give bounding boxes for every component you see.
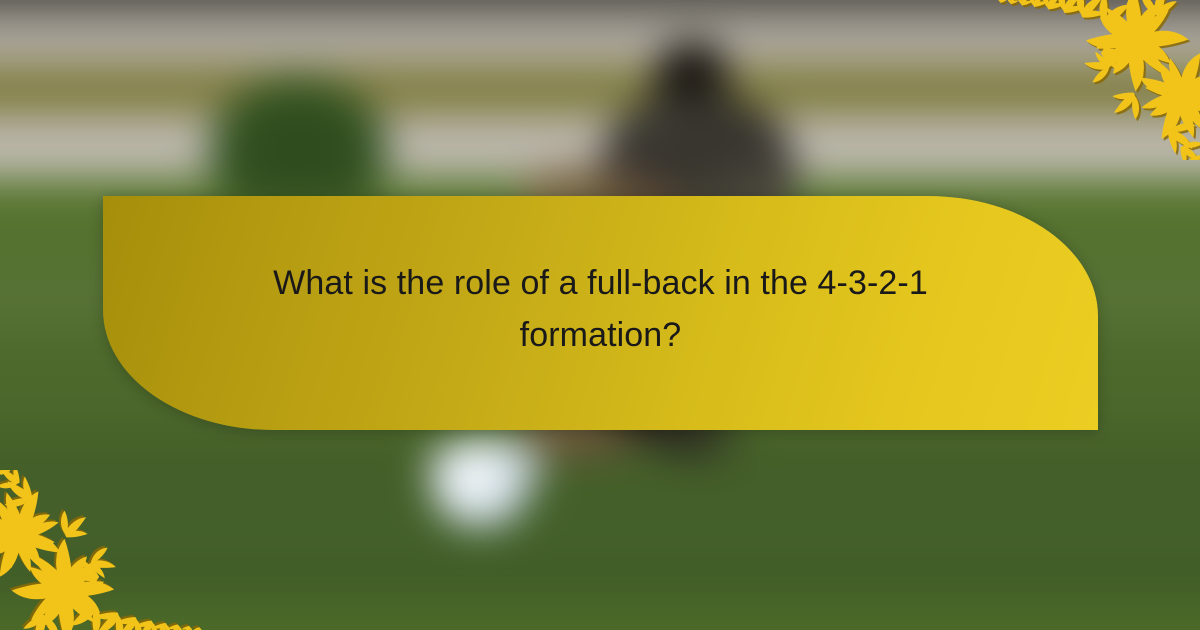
stadium-advert-stripe — [0, 62, 1200, 124]
stadium-wall-upper — [0, 3, 1200, 71]
question-text: What is the role of a full-back in the 4… — [221, 258, 981, 367]
question-card: What is the role of a full-back in the 4… — [0, 0, 1200, 630]
soccer-ball-icon — [432, 443, 532, 528]
question-banner: What is the role of a full-back in the 4… — [103, 196, 1098, 430]
pitch-side-bush — [200, 71, 398, 206]
